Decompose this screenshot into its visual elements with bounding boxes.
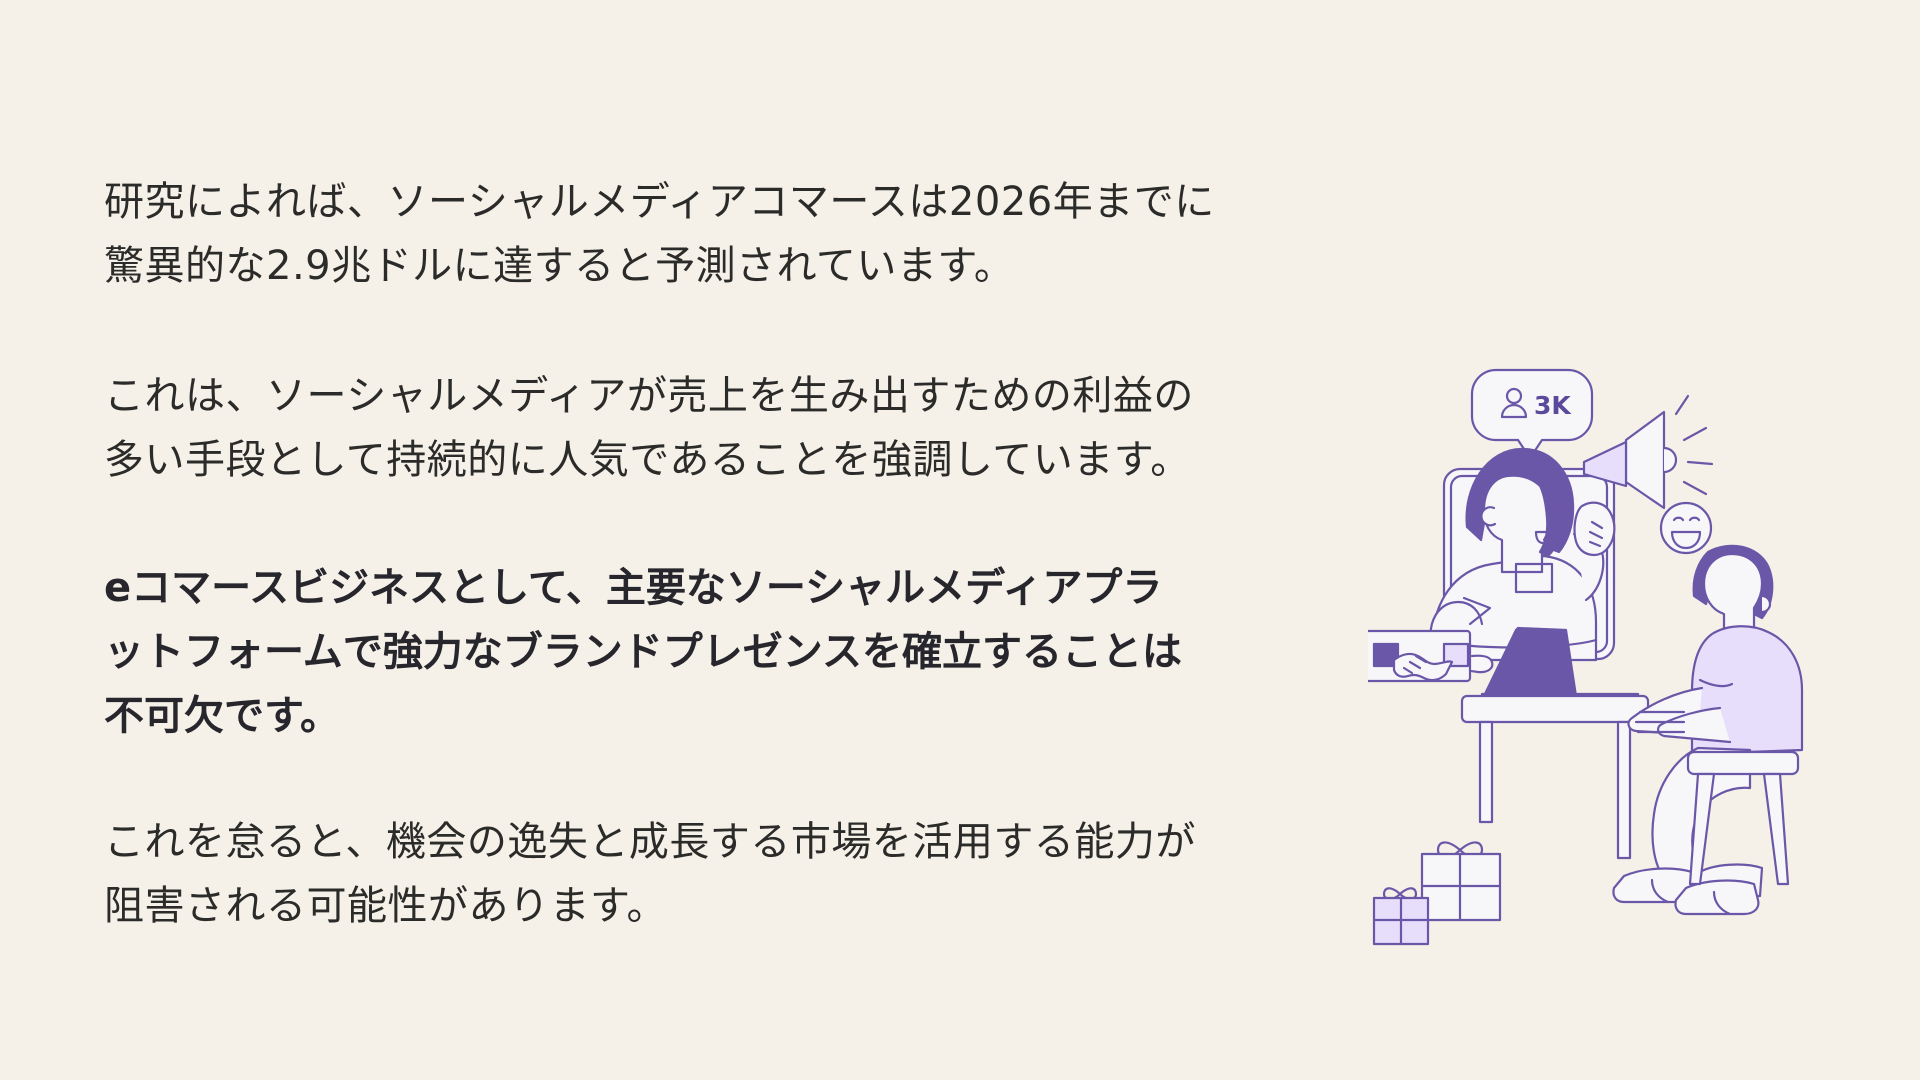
gift-box-small (1374, 888, 1428, 944)
illustration-svg: .ln { fill:none; stroke:#6B57A8; stroke-… (1368, 352, 1848, 1000)
follower-count-label: 3K (1534, 391, 1572, 420)
social-commerce-illustration: .ln { fill:none; stroke:#6B57A8; stroke-… (1368, 352, 1848, 1000)
warning-paragraph: これを怠ると、機会の逸失と成長する市場を活用する能力が 阻害される可能性がありま… (104, 810, 1304, 938)
stat-paragraph: 研究によれば、ソーシャルメディアコマースは2026年までに 驚異的な2.9兆ドル… (104, 170, 1304, 298)
follower-badge: 3K (1472, 370, 1592, 458)
insight-paragraph: これは、ソーシャルメディアが売上を生み出すための利益の 多い手段として持続的に人… (104, 364, 1304, 492)
handshake-card (1368, 631, 1470, 681)
smiley-face-icon (1661, 503, 1711, 553)
gift-box-large (1422, 842, 1500, 920)
text-column: 研究によれば、ソーシャルメディアコマースは2026年までに 驚異的な2.9兆ドル… (104, 170, 1304, 938)
key-message-paragraph: eコマースビジネスとして、主要なソーシャルメディアプラ ットフォームで強力なブラ… (104, 556, 1304, 748)
desk (1462, 696, 1648, 858)
slide-root: 研究によれば、ソーシャルメディアコマースは2026年までに 驚異的な2.9兆ドル… (0, 0, 1920, 1080)
